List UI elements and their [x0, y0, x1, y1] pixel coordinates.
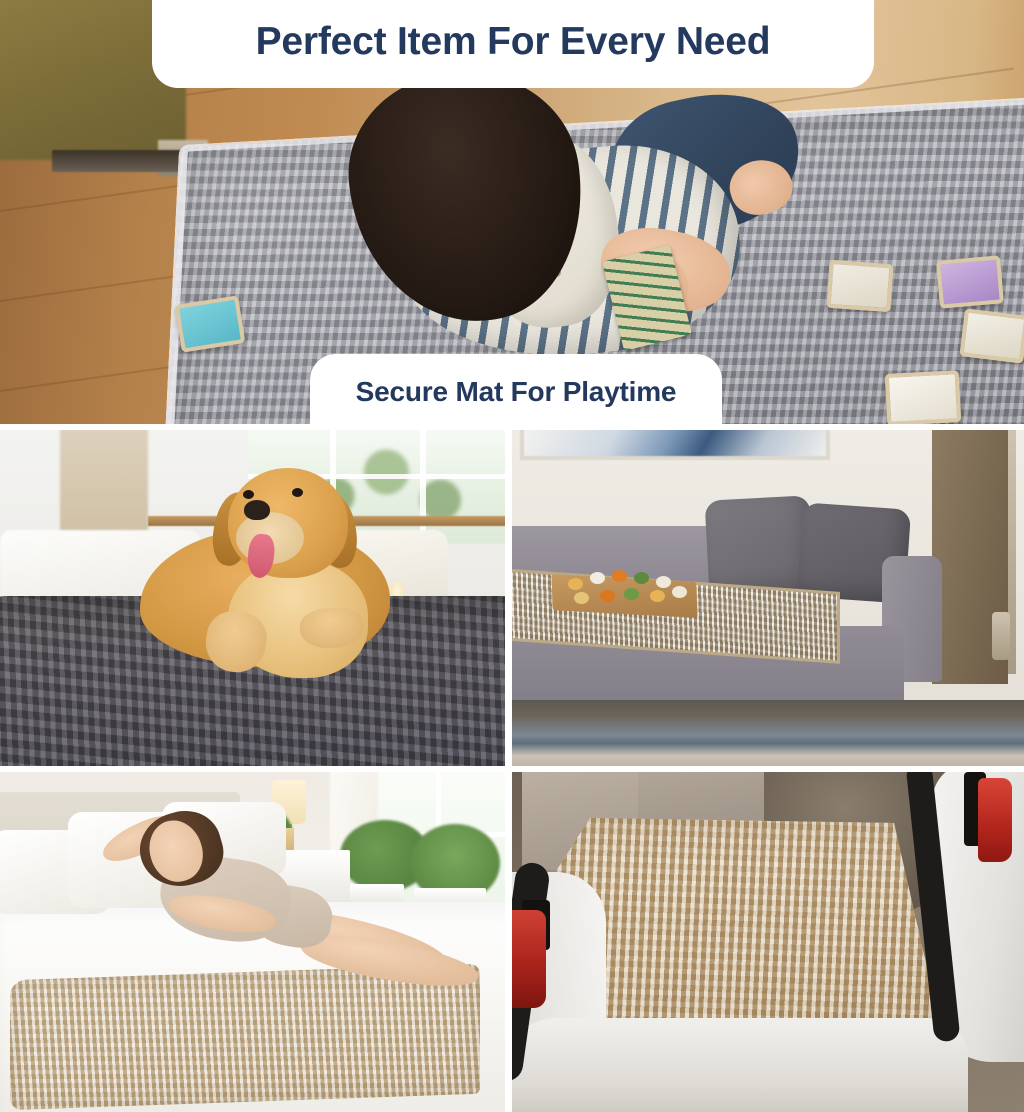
panel-mess-free-travel: Mess-Free Travel	[512, 772, 1024, 1112]
snack-item	[612, 570, 627, 582]
snack-item	[634, 572, 649, 584]
panel-playtime: Perfect Item For Every Need Secure Mat F…	[0, 0, 1024, 424]
taillight-left	[512, 910, 546, 1008]
rear-bumper	[512, 1018, 968, 1112]
snack-item	[650, 590, 665, 602]
dog-nose	[244, 500, 270, 520]
page-title: Perfect Item For Every Need	[152, 0, 874, 88]
toy-card	[826, 260, 893, 312]
caption-playtime: Secure Mat For Playtime	[310, 354, 722, 424]
dog-eye	[292, 488, 303, 497]
snack-item	[574, 592, 589, 604]
beige-bed-mat	[10, 964, 480, 1110]
snack-item	[672, 586, 687, 598]
floor-rug	[512, 700, 1024, 766]
taillight-right	[978, 778, 1012, 862]
toy-card	[959, 308, 1024, 363]
snack-item	[656, 576, 671, 588]
framed-artwork	[520, 430, 830, 460]
snack-item	[600, 590, 615, 602]
toy-card	[175, 295, 246, 352]
snack-item	[590, 572, 605, 584]
panel-overnight-leaks: Barrier Against Overnight Leaks	[0, 772, 505, 1112]
panel-snack-time: Snack Time Protection	[512, 430, 1024, 766]
toy-card	[936, 255, 1004, 308]
snack-item	[624, 588, 639, 600]
panel-pet-couch: Comfy Pet & Clean Couch	[0, 430, 505, 766]
feature-collage: Perfect Item For Every Need Secure Mat F…	[0, 0, 1024, 1112]
toy-card	[885, 370, 962, 424]
dog-eye	[243, 490, 254, 499]
wall-panel	[60, 430, 148, 534]
floor-lamp	[992, 612, 1010, 660]
snack-item	[568, 578, 583, 590]
